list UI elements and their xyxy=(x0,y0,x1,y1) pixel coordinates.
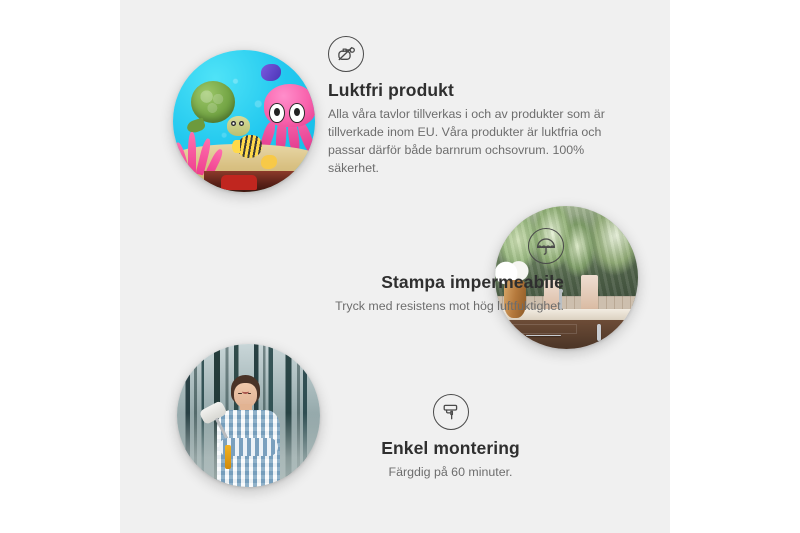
cabinet-handle xyxy=(597,324,601,341)
towel xyxy=(581,275,598,312)
painter-forest-mural-thumbnail[interactable] xyxy=(177,344,320,487)
feature-odorless: Luktfri produkt Alla våra tavlor tillver… xyxy=(328,36,628,178)
pink-coral xyxy=(176,132,224,175)
paint-roller-icon xyxy=(433,394,469,430)
smile xyxy=(242,388,250,393)
painter-artwork xyxy=(177,344,320,487)
feature-waterproof: Stampa impermeabile Tryck med resistens … xyxy=(210,228,564,316)
shipwreck-detail xyxy=(204,171,315,192)
feature-description: Färgdig på 60 minuter. xyxy=(333,464,568,482)
underwater-kids-mural-thumbnail[interactable] xyxy=(173,50,315,192)
octopus-eye xyxy=(289,103,305,123)
umbrella-icon xyxy=(528,228,564,264)
feature-description: Alla våra tavlor tillverkas i och av pro… xyxy=(328,106,628,178)
underwater-artwork xyxy=(173,50,315,192)
feature-easy-installation: Enkel montering Färgdig på 60 minuter. xyxy=(333,394,568,482)
screenshot-stage: Luktfri produkt Alla våra tavlor tillver… xyxy=(0,0,800,533)
woman-painter xyxy=(214,375,288,487)
octopus-eye xyxy=(269,103,285,123)
drawer-handle xyxy=(526,335,562,336)
yellow-tool xyxy=(225,445,232,470)
no-odor-icon xyxy=(328,36,364,72)
feature-description: Tryck med resistens mot hög luftfuktighe… xyxy=(210,298,564,316)
feature-panel: Luktfri produkt Alla våra tavlor tillver… xyxy=(120,0,670,533)
wooden-vanity xyxy=(506,320,638,349)
sea-turtle xyxy=(187,81,247,138)
feature-title: Enkel montering xyxy=(333,438,568,459)
feature-title: Luktfri produkt xyxy=(328,80,628,101)
turtle-head xyxy=(227,116,251,135)
feature-title: Stampa impermeabile xyxy=(210,272,564,293)
turtle-shell xyxy=(191,81,235,123)
small-yellow-fish xyxy=(261,155,277,169)
